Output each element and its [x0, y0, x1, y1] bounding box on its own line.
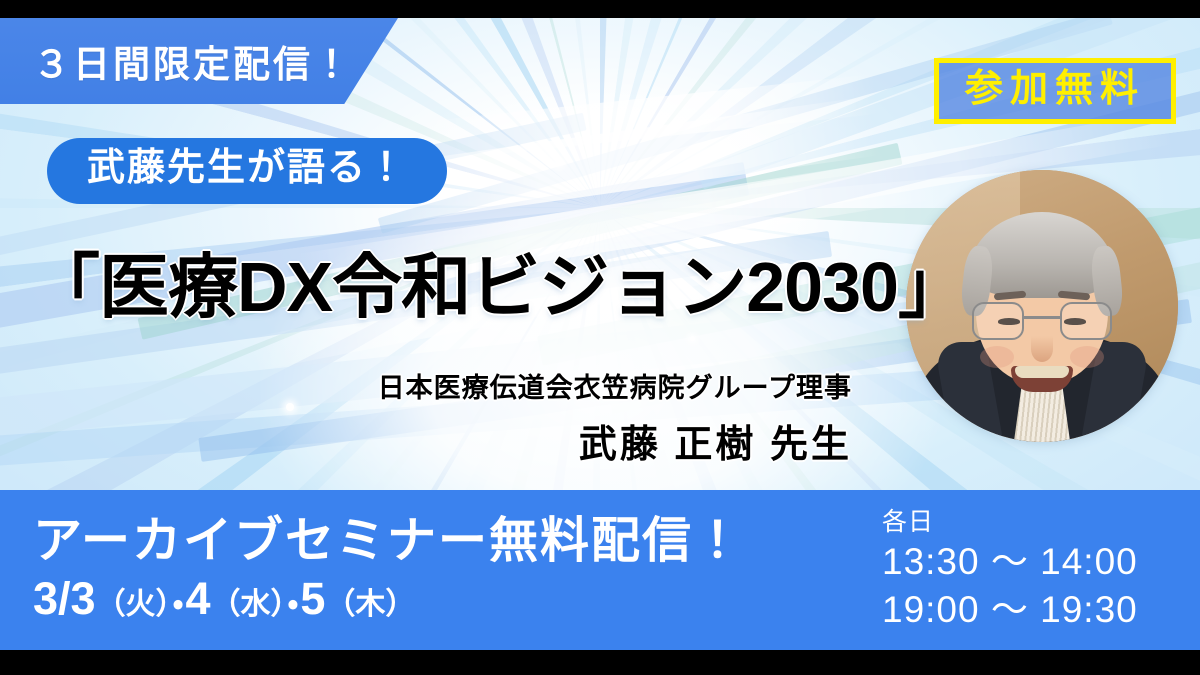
bottom-info-bar: アーカイブセミナー無料配信！ 3/3（火）・4（水）・5（木） 各日 13:30… — [0, 490, 1200, 650]
bottom-bar-time-block: 各日 13:30 〜 14:00 19:00 〜 19:30 — [882, 507, 1200, 633]
each-day-label: 各日 — [882, 507, 1176, 538]
free-participation-label: 参加無料 — [965, 68, 1145, 110]
sparkle-icon — [556, 160, 562, 166]
date-1-dayofweek: （火） — [96, 588, 171, 621]
portrait-cheek-right — [1070, 346, 1104, 368]
page-title: 「医療DX令和ビジョン2030」 — [30, 231, 967, 332]
time-slot-afternoon: 13:30 〜 14:00 — [882, 538, 1176, 585]
date-2-number: 4 — [185, 573, 210, 624]
speaker-credentials: 日本医療伝道会衣笠病院グループ理事 武藤 正樹 先生 — [378, 366, 852, 468]
banner-stage: ３日間限定配信！ 参加無料 武藤先生が語る！ 「医療DX令和ビジョン2030」 … — [0, 18, 1200, 650]
glasses-lens-right — [1060, 302, 1112, 340]
speaker-intro-label: 武藤先生が語る！ — [87, 147, 407, 189]
date-2-dayofweek: （水） — [210, 588, 285, 621]
speaker-name: 武藤 正樹 先生 — [378, 413, 852, 468]
glasses-lens-left — [972, 302, 1024, 340]
time-slot-evening: 19:00 〜 19:30 — [882, 586, 1176, 633]
bottom-bar-left-block: アーカイブセミナー無料配信！ 3/3（火）・4（水）・5（木） — [0, 514, 744, 627]
date-3-number: 5 — [300, 573, 325, 624]
portrait-nose — [1031, 336, 1053, 362]
seminar-banner: ３日間限定配信！ 参加無料 武藤先生が語る！ 「医療DX令和ビジョン2030」 … — [0, 0, 1200, 675]
archive-seminar-headline: アーカイブセミナー無料配信！ — [33, 514, 744, 569]
portrait-cheek-left — [980, 346, 1014, 368]
portrait-teeth — [1015, 366, 1069, 378]
date-3-dayofweek: （木） — [325, 588, 415, 621]
speaker-organization: 日本医療伝道会衣笠病院グループ理事 — [378, 366, 852, 405]
limited-broadcast-ribbon: ３日間限定配信！ — [0, 18, 398, 104]
glasses-bridge — [1024, 316, 1060, 319]
sparkle-icon — [286, 403, 294, 411]
seminar-dates: 3/3（火）・4（水）・5（木） — [33, 572, 744, 626]
date-separator: ・ — [285, 585, 300, 621]
speaker-intro-pill: 武藤先生が語る！ — [47, 138, 447, 204]
free-participation-badge: 参加無料 — [934, 58, 1176, 124]
ribbon-label: ３日間限定配信！ — [33, 34, 353, 88]
date-1-number: 3/3 — [33, 573, 96, 624]
sparkle-icon — [690, 336, 695, 341]
date-separator: ・ — [171, 585, 186, 621]
